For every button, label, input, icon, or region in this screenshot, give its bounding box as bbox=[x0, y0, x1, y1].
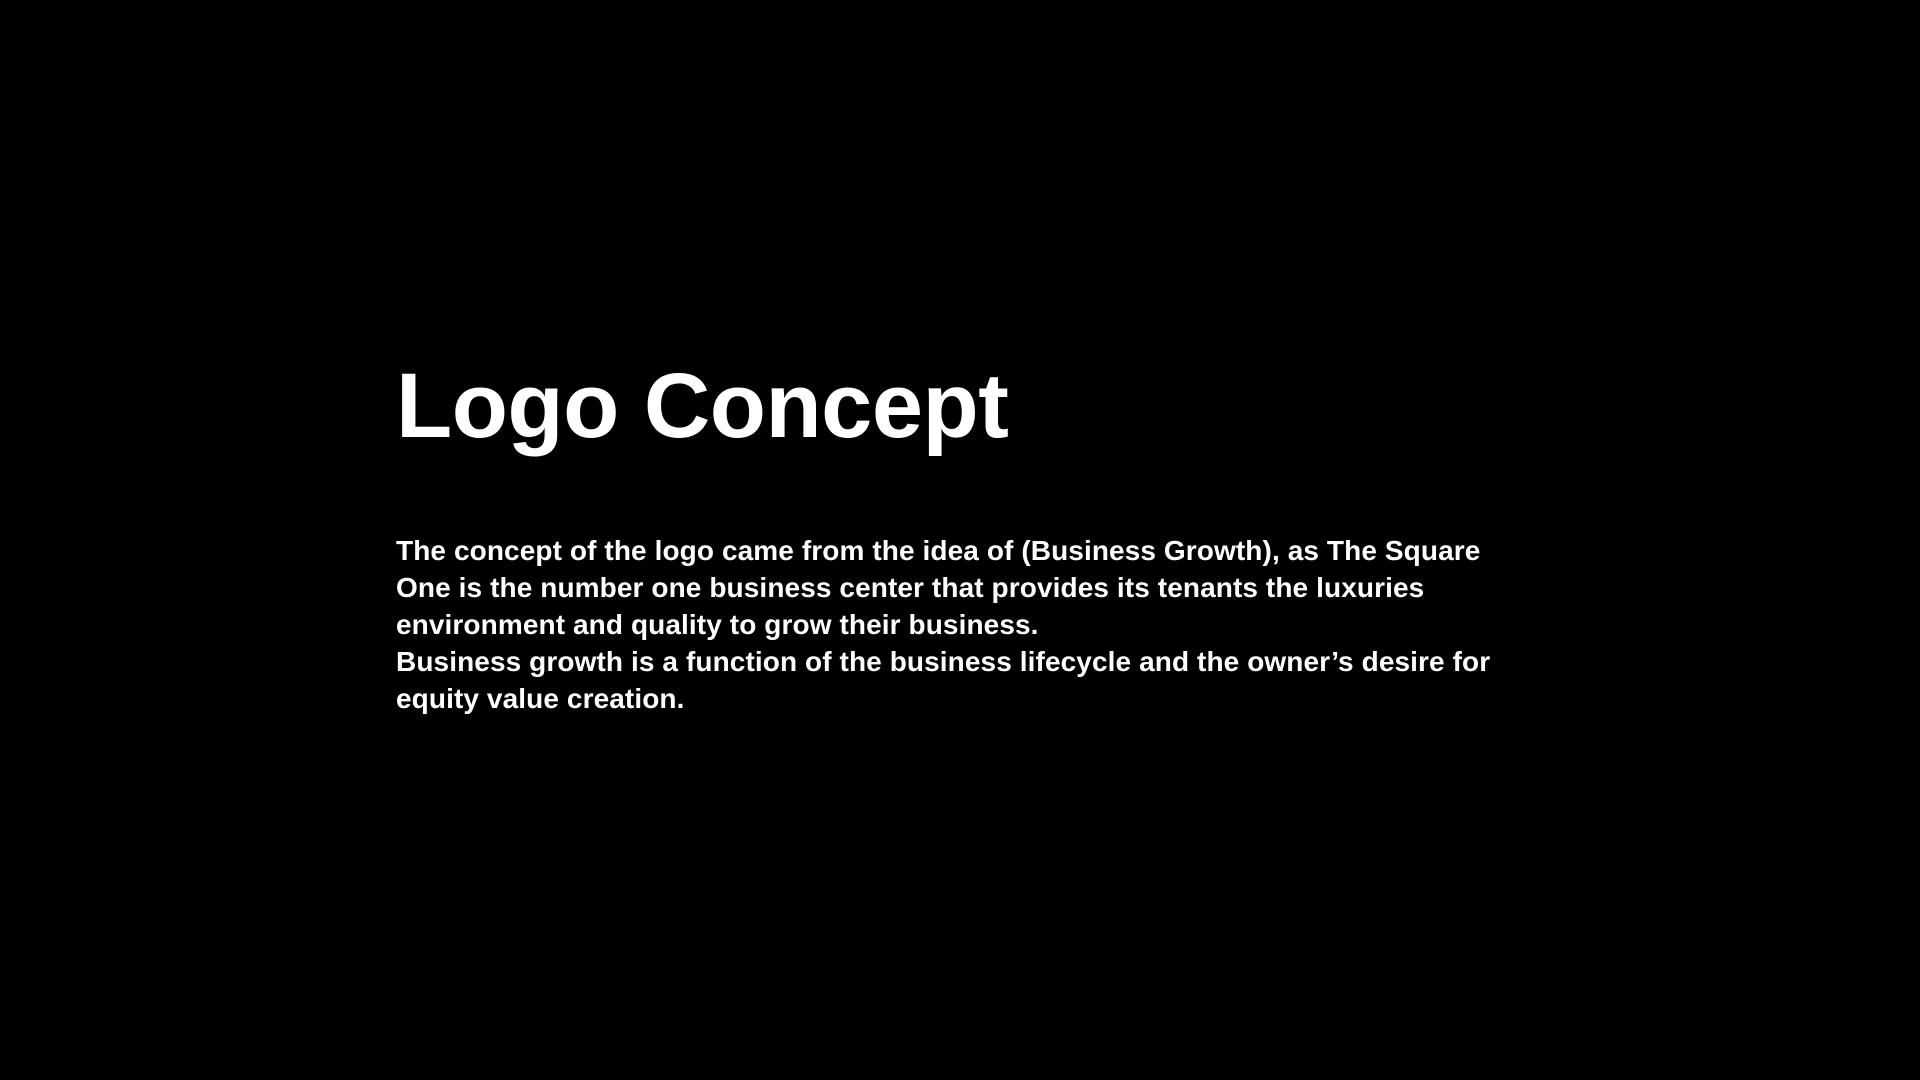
body-paragraph-2: Business growth is a function of the bus… bbox=[396, 643, 1524, 717]
title-body-spacer bbox=[396, 454, 1556, 532]
body-copy: The concept of the logo came from the id… bbox=[396, 532, 1524, 717]
body-paragraph-1: The concept of the logo came from the id… bbox=[396, 532, 1524, 643]
slide-content-block: Logo Concept The concept of the logo cam… bbox=[396, 360, 1556, 717]
page-title: Logo Concept bbox=[396, 360, 1556, 454]
slide-canvas: Logo Concept The concept of the logo cam… bbox=[0, 0, 1920, 1080]
